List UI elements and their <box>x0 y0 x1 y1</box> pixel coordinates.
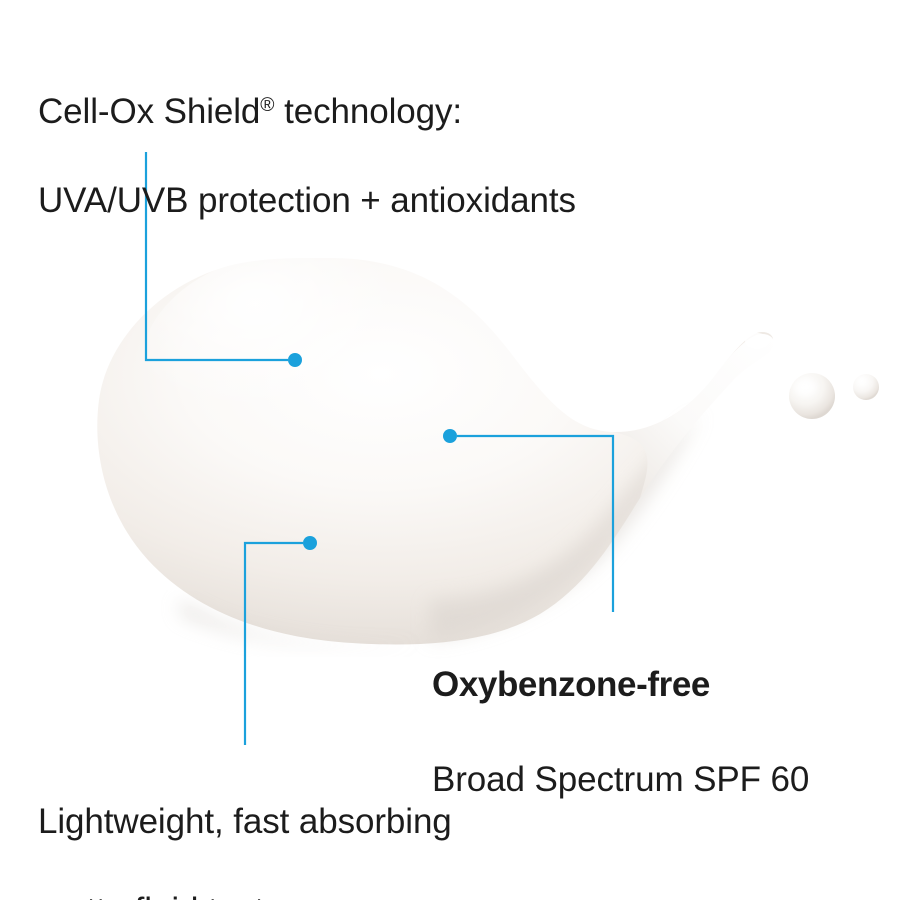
callout-technology-line2: UVA/UVB protection + antioxidants <box>38 179 576 224</box>
leader-dot-technology <box>288 353 302 367</box>
registered-trademark-icon: ® <box>260 95 274 116</box>
callout-technology-line1: Cell-Ox Shield® technology: <box>38 90 576 135</box>
callout-spf-subline: Broad Spectrum SPF 60 <box>432 758 809 803</box>
callout-texture: Lightweight, fast absorbing matte fluid … <box>38 755 452 900</box>
callout-texture-line2: matte fluid texture <box>38 889 452 900</box>
callout-spf-headline: Oxybenzone-free <box>432 663 809 708</box>
callout-technology-line1-suffix: technology: <box>274 92 462 131</box>
leader-dot-spf <box>443 429 457 443</box>
callout-texture-line1: Lightweight, fast absorbing <box>38 800 452 845</box>
leader-line-texture <box>245 543 303 745</box>
product-infographic: Cell-Ox Shield® technology: UVA/UVB prot… <box>0 0 900 900</box>
leader-line-spf <box>457 436 613 612</box>
callout-spf: Oxybenzone-free Broad Spectrum SPF 60 <box>432 618 809 848</box>
callout-technology: Cell-Ox Shield® technology: UVA/UVB prot… <box>38 45 576 269</box>
callout-technology-brand: Cell-Ox Shield <box>38 92 260 131</box>
leader-dot-texture <box>303 536 317 550</box>
